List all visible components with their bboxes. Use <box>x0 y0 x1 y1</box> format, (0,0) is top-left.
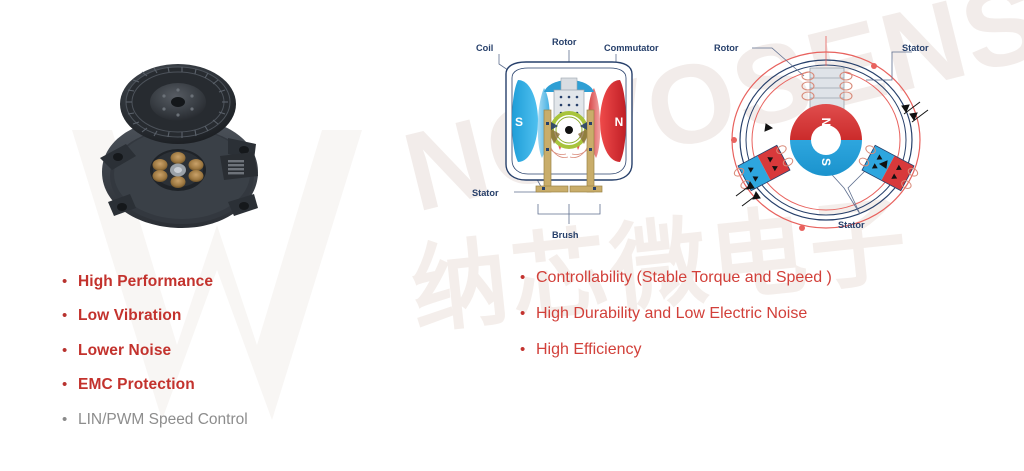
list-item-label: Lower Noise <box>78 341 171 360</box>
bullet-glyph: • <box>62 274 78 289</box>
bullet-glyph: • <box>520 342 536 357</box>
brushed-label-coil: Coil <box>476 43 493 53</box>
list-item[interactable]: • Controllability (Stable Torque and Spe… <box>520 268 950 288</box>
bullet-glyph: • <box>62 343 78 358</box>
brushed-motor-feature-list: • High Performance • Low Vibration • Low… <box>62 272 392 444</box>
bullet-glyph: • <box>62 412 78 427</box>
list-item-label: LIN/PWM Speed Control <box>78 410 248 429</box>
bldc-label-rotor: Rotor <box>714 43 739 53</box>
list-item-label: High Durability and Low Electric Noise <box>536 304 807 324</box>
bullet-glyph: • <box>62 377 78 392</box>
bldc-label-stator-bottom: Stator <box>838 220 865 230</box>
brushed-label-brush: Brush <box>552 230 579 240</box>
brushed-label-stator: Stator <box>472 188 499 198</box>
list-item[interactable]: • High Efficiency <box>520 340 950 360</box>
bullet-glyph: • <box>62 308 78 323</box>
brushless-motor-diagram: Rotor Stator Stator N S <box>706 18 946 242</box>
slide-canvas: NOVOSENSE 纳芯微电子 <box>0 0 1024 471</box>
bldc-label-stator-right: Stator <box>902 43 929 53</box>
list-item-label: High Performance <box>78 272 213 291</box>
list-item[interactable]: • High Performance <box>62 272 392 291</box>
list-item-label: Low Vibration <box>78 306 182 325</box>
list-item[interactable]: • Low Vibration <box>62 306 392 325</box>
blower-motor-photo <box>78 52 274 244</box>
brushless-motor-feature-list: • Controllability (Stable Torque and Spe… <box>520 268 950 376</box>
list-item[interactable]: • High Durability and Low Electric Noise <box>520 304 950 324</box>
bldc-south-pole-label: S <box>819 158 833 166</box>
brushed-label-rotor: Rotor <box>552 37 577 47</box>
brushed-north-pole-label: N <box>615 115 624 129</box>
bldc-north-pole-label: N <box>819 118 833 127</box>
bullet-glyph: • <box>520 306 536 321</box>
list-item-label: EMC Protection <box>78 375 195 394</box>
brushed-south-pole-label: S <box>515 115 523 129</box>
list-item[interactable]: • EMC Protection <box>62 375 392 394</box>
list-item[interactable]: • Lower Noise <box>62 341 392 360</box>
brushed-label-commutator: Commutator <box>604 43 659 53</box>
bullet-glyph: • <box>520 270 536 285</box>
list-item-label: Controllability (Stable Torque and Speed… <box>536 268 832 288</box>
brushed-motor-diagram: Coil Rotor Commutator Stator Brush S N <box>466 18 692 242</box>
list-item[interactable]: • LIN/PWM Speed Control <box>62 410 392 429</box>
list-item-label: High Efficiency <box>536 340 642 360</box>
